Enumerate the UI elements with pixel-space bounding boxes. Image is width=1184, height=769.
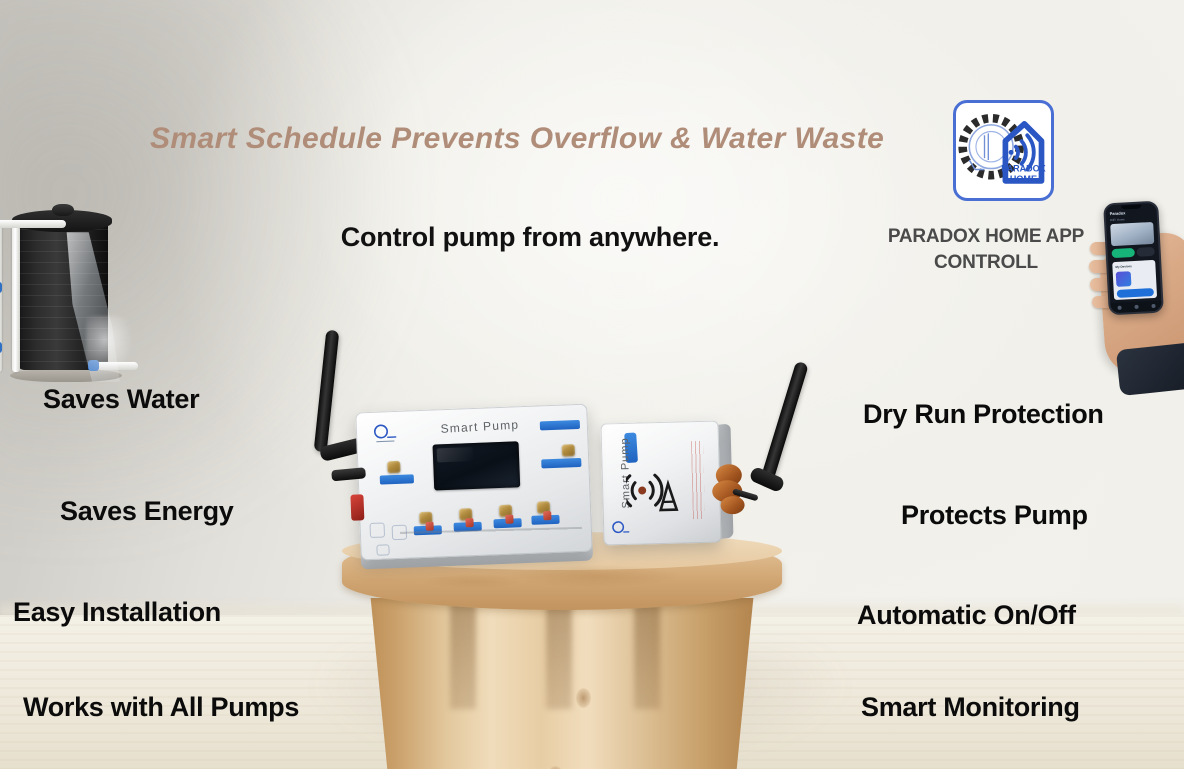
feature-saves-water: Saves Water bbox=[43, 384, 199, 415]
paradox-home-logo: PARADOX HOME bbox=[953, 100, 1054, 201]
controller-red-connector bbox=[350, 494, 364, 520]
app-subtitle: WiFi Home bbox=[1110, 217, 1125, 222]
controller-pad-1 bbox=[369, 522, 385, 538]
tank-cap bbox=[52, 204, 74, 216]
subtitle: Control pump from anywhere. bbox=[300, 222, 760, 253]
sleeve-cuff bbox=[1116, 342, 1184, 396]
pipe-horizontal-top bbox=[0, 220, 66, 228]
smart-pump-module: Smart Pump bbox=[600, 420, 721, 545]
controller-power-wire bbox=[331, 467, 366, 481]
pipe-vertical-inner bbox=[12, 226, 20, 372]
red-terminal-2 bbox=[465, 518, 473, 527]
module-brand-mark-icon bbox=[611, 520, 631, 538]
controller-strip-mid-left[interactable] bbox=[380, 474, 414, 484]
app-devices-button[interactable] bbox=[1112, 248, 1135, 258]
module-body: Smart Pump bbox=[600, 420, 721, 545]
controller-strip-mid-right[interactable] bbox=[541, 458, 581, 469]
logo-text-line2: HOME bbox=[1010, 174, 1037, 184]
page-title: Smart Schedule Prevents Overflow & Water… bbox=[150, 122, 910, 156]
terminal-screw-left bbox=[387, 461, 400, 473]
app-control-caption: PARADOX HOME APP CONTROLL bbox=[862, 224, 1110, 275]
copper-wiring bbox=[709, 461, 758, 516]
app-title: Paradox bbox=[1110, 210, 1126, 216]
feature-saves-energy: Saves Energy bbox=[60, 496, 234, 527]
antenna-right bbox=[752, 360, 822, 505]
app-device-tile[interactable] bbox=[1116, 271, 1132, 287]
app-device-card: My Devices bbox=[1112, 260, 1157, 300]
water-splash bbox=[86, 316, 134, 376]
phone-in-hand: Paradox WiFi Home My Devices bbox=[1092, 196, 1184, 336]
nav-settings-icon[interactable] bbox=[1151, 304, 1155, 308]
logo-artwork: PARADOX HOME bbox=[956, 103, 1051, 198]
wood-knot-1 bbox=[576, 688, 591, 708]
terminal-screw-right bbox=[562, 444, 575, 456]
app-bottom-nav[interactable] bbox=[1110, 301, 1161, 314]
phone-notch bbox=[1121, 205, 1141, 210]
nav-devices-icon[interactable] bbox=[1134, 305, 1138, 309]
feature-easy-installation: Easy Installation bbox=[13, 597, 221, 628]
antenna-right-rod bbox=[760, 361, 809, 483]
feature-works-with-all-pumps: Works with All Pumps bbox=[23, 692, 299, 723]
red-terminal-3 bbox=[505, 515, 513, 524]
lcd-display bbox=[433, 441, 521, 490]
controller-brand-mark-icon bbox=[372, 423, 399, 446]
red-terminal-4 bbox=[543, 511, 551, 520]
app-add-device-button[interactable] bbox=[1117, 288, 1154, 298]
controller-faceplate: Smart Pump bbox=[355, 404, 593, 561]
water-tank-illustration bbox=[0, 196, 140, 382]
smart-pump-controller: Smart Pump bbox=[355, 404, 593, 561]
module-label-print bbox=[691, 441, 705, 519]
controller-pad-3 bbox=[376, 544, 389, 555]
app-card-title: My Devices bbox=[1115, 264, 1132, 269]
app-scenes-button[interactable] bbox=[1136, 247, 1155, 257]
controller-pad-2 bbox=[392, 525, 408, 541]
antenna-left-rod bbox=[314, 330, 340, 453]
feature-dry-run-protection: Dry Run Protection bbox=[863, 399, 1104, 430]
feature-protects-pump: Protects Pump bbox=[901, 500, 1088, 531]
wooden-stool bbox=[334, 536, 790, 769]
nav-home-icon[interactable] bbox=[1117, 306, 1121, 310]
copper-coil-3 bbox=[720, 496, 744, 515]
poster-canvas: Smart Schedule Prevents Overflow & Water… bbox=[0, 0, 1184, 769]
lcd-glare bbox=[437, 447, 474, 462]
controller-title: Smart Pump bbox=[430, 417, 531, 437]
feature-smart-monitoring: Smart Monitoring bbox=[861, 692, 1080, 723]
smartphone: Paradox WiFi Home My Devices bbox=[1103, 201, 1164, 316]
feature-automatic-on-off: Automatic On/Off bbox=[857, 600, 1076, 631]
logo-text-line1: PARADOX bbox=[1001, 163, 1045, 173]
red-terminal-1 bbox=[425, 522, 433, 531]
controller-strip-top-right[interactable] bbox=[540, 420, 580, 431]
app-hero-image bbox=[1110, 222, 1154, 246]
wireless-signal-tower-icon bbox=[626, 463, 687, 517]
app-button-row bbox=[1112, 247, 1155, 258]
